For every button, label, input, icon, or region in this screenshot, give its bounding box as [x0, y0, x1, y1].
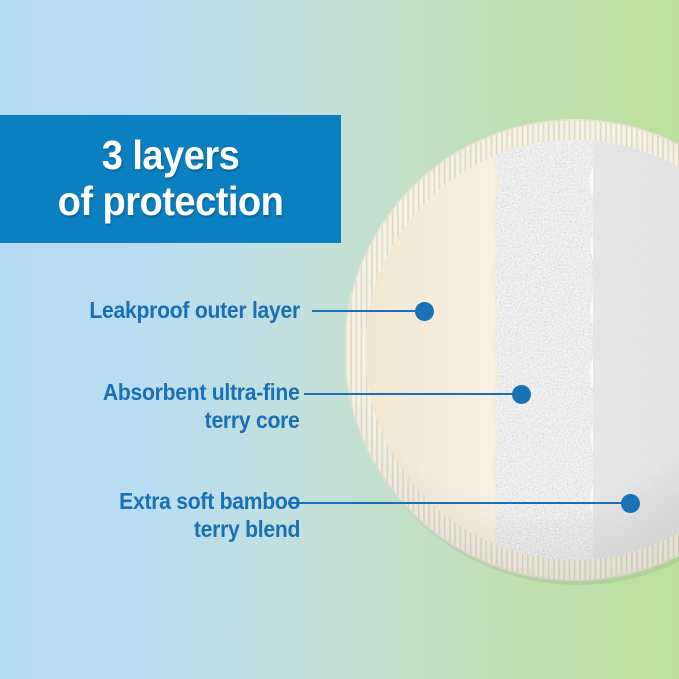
callout-leader-line-1: [312, 310, 418, 312]
callout-3-line-1: Extra soft bamboo: [119, 488, 300, 516]
callout-group: Leakproof outer layer Absorbent ultra-fi…: [0, 0, 679, 679]
callout-leader-line-2: [304, 393, 516, 395]
callout-leader-line-3: [288, 502, 625, 504]
callout-dot-bamboo-terry-blend: [621, 494, 640, 513]
callout-2-line-1: Absorbent ultra-fine: [103, 379, 300, 407]
callout-dot-leakproof-outer-layer: [415, 302, 434, 321]
callout-label-bamboo-terry-blend: Extra soft bamboo terry blend: [119, 488, 300, 543]
infographic-canvas: 3 layers of protection Leakproof outer l…: [0, 0, 679, 679]
callout-label-absorbent-terry-core: Absorbent ultra-fine terry core: [103, 379, 300, 434]
callout-1-line-1: Leakproof outer layer: [89, 297, 300, 325]
callout-2-line-2: terry core: [103, 407, 300, 435]
callout-label-leakproof-outer-layer: Leakproof outer layer: [89, 297, 300, 325]
callout-3-line-2: terry blend: [119, 516, 300, 544]
callout-dot-absorbent-terry-core: [512, 385, 531, 404]
